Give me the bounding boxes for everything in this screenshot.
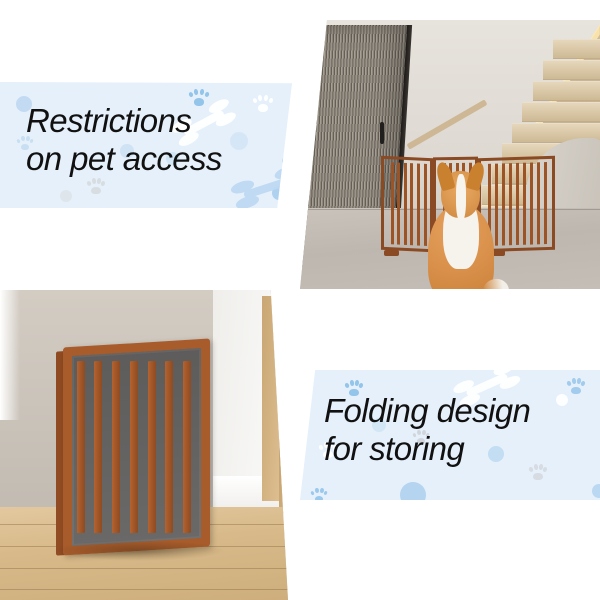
gate-bar (538, 162, 541, 244)
paw-print-icon (252, 92, 274, 113)
folded-gate-slat (165, 361, 173, 534)
decorative-dot (400, 482, 426, 500)
stair-step (553, 39, 600, 59)
folded-gate-slat (77, 361, 85, 534)
gate-bar (397, 163, 400, 245)
gate-bar (524, 163, 527, 245)
gate-shadow (52, 540, 225, 561)
gate-bar (510, 163, 513, 245)
window-light (0, 290, 20, 420)
dog-ear-left (434, 161, 455, 192)
folded-gate-slat (94, 361, 102, 534)
folded-gate-slat (130, 361, 138, 534)
paw-print-icon (86, 176, 106, 195)
dog-at-stair-gate-photo (300, 20, 600, 289)
decorative-dot (556, 394, 568, 406)
decorative-dot (592, 484, 600, 498)
stair-step (522, 102, 600, 122)
stair-scene (300, 20, 600, 289)
gate-foot (384, 250, 400, 256)
floor-plank-line (0, 589, 288, 590)
folded-gate-storage-photo (0, 290, 288, 600)
folded-gate-slat (148, 361, 156, 534)
decorative-dot (60, 190, 72, 202)
dog-ear-right (465, 161, 486, 192)
gate-bar (391, 162, 394, 244)
gate-bar (531, 163, 534, 245)
gate-bar (545, 162, 548, 244)
door-frame (262, 296, 285, 501)
paw-print-icon (310, 486, 328, 500)
stair-step (543, 60, 600, 80)
restrictions-banner: Restrictions on pet access (0, 82, 292, 208)
folded-gate-slat (183, 361, 191, 534)
gate-bar (410, 163, 413, 245)
restrictions-banner-text: Restrictions on pet access (26, 102, 222, 178)
folded-gate (63, 343, 210, 551)
gate-bar (503, 164, 506, 246)
folding-banner-text: Folding design for storing (324, 392, 530, 468)
door-handle (380, 122, 384, 144)
gate-bar (517, 163, 520, 245)
floor-plank-line (0, 568, 288, 569)
folding-banner: Folding design for storing (300, 370, 600, 500)
decorative-dot (230, 132, 248, 150)
gate-bar (404, 163, 407, 245)
door-frame-edge (279, 296, 288, 513)
decorative-dot (282, 156, 292, 166)
gate-bar (417, 164, 420, 246)
folded-gate-slat (112, 361, 120, 534)
dog-blaze (456, 174, 466, 222)
paw-print-icon (566, 376, 586, 395)
paw-print-icon (528, 462, 548, 481)
corgi-dog (423, 165, 498, 289)
collage-canvas: Restrictions on pet access Folding desig… (0, 0, 600, 600)
bone-icon (229, 162, 292, 208)
stair-step (533, 81, 600, 101)
